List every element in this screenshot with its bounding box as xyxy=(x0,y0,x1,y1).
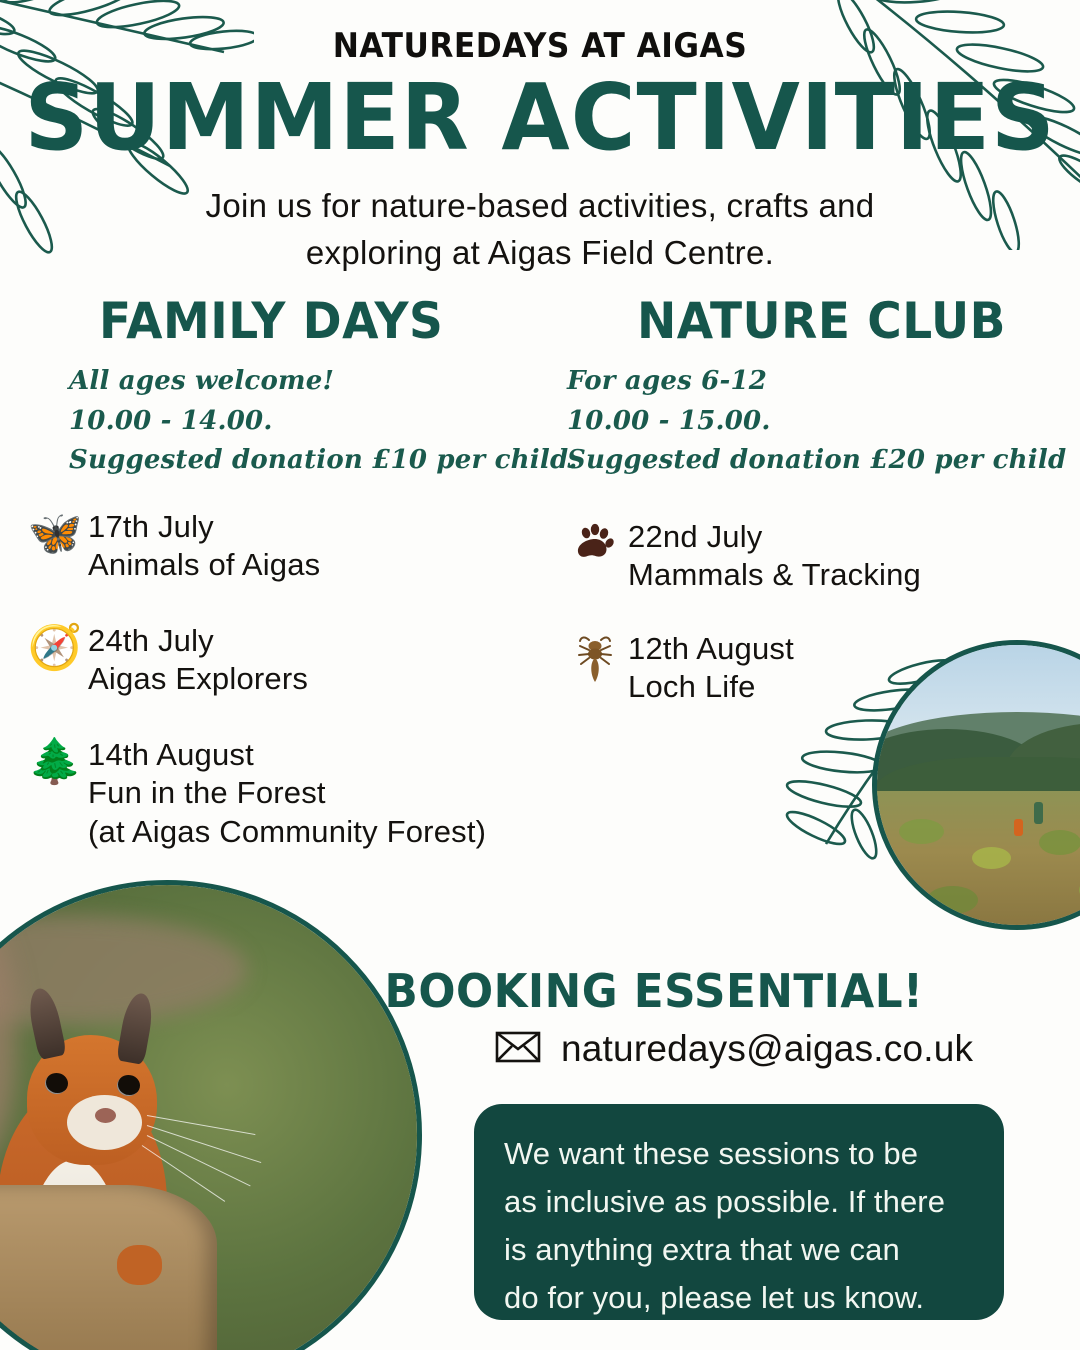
evergreen-trees-icon: 🌲 xyxy=(22,736,88,784)
event-item: 🦋 17th July Animals of Aigas xyxy=(22,508,320,585)
email-address[interactable]: naturedays@aigas.co.uk xyxy=(561,1028,973,1070)
family-days-meta-line-3: Suggested donation £10 per child. xyxy=(69,441,539,481)
event-date: 24th July xyxy=(88,622,308,660)
envelope-icon xyxy=(495,1030,541,1069)
inclusivity-line-2: as inclusive as possible. If there xyxy=(504,1178,974,1226)
event-name: Animals of Aigas xyxy=(88,546,320,584)
inclusivity-line-3: is anything extra that we can xyxy=(504,1226,974,1274)
event-name: Aigas Explorers xyxy=(88,660,308,698)
event-date: 14th August xyxy=(88,736,486,774)
event-text: 22nd July Mammals & Tracking xyxy=(628,518,921,595)
email-row[interactable]: naturedays@aigas.co.uk xyxy=(495,1028,973,1070)
section-heading-family-days: FAMILY DAYS xyxy=(99,292,443,350)
squirrel-photo xyxy=(0,880,422,1350)
landscape-photo xyxy=(872,640,1080,930)
event-name: Mammals & Tracking xyxy=(628,556,921,594)
intro-line-2: exploring at Aigas Field Centre. xyxy=(306,234,774,271)
booking-heading: BOOKING ESSENTIAL! xyxy=(27,964,1053,1018)
event-note: (at Aigas Community Forest) xyxy=(88,813,486,851)
intro-line-1: Join us for nature-based activities, cra… xyxy=(206,187,875,224)
nature-club-meta: For ages 6-12 10.00 - 15.00. Suggested d… xyxy=(567,362,1037,481)
kicker-text: NATUREDAYS AT AIGAS xyxy=(43,26,1037,66)
event-name: Loch Life xyxy=(628,668,794,706)
inclusivity-note: We want these sessions to be as inclusiv… xyxy=(474,1104,1004,1320)
event-item: 22nd July Mammals & Tracking xyxy=(562,518,921,595)
event-item: 12th August Loch Life xyxy=(562,630,794,707)
event-date: 22nd July xyxy=(628,518,921,556)
event-text: 24th July Aigas Explorers xyxy=(88,622,308,699)
family-days-meta: All ages welcome! 10.00 - 14.00. Suggest… xyxy=(69,362,539,481)
paw-print-icon xyxy=(562,518,628,572)
family-days-meta-line-2: 10.00 - 14.00. xyxy=(69,402,539,442)
event-name: Fun in the Forest xyxy=(88,774,486,812)
family-days-meta-line-1: All ages welcome! xyxy=(69,362,539,402)
section-heading-nature-club: NATURE CLUB xyxy=(637,292,1006,350)
poster-canvas: NATUREDAYS AT AIGAS SUMMER ACTIVITIES Jo… xyxy=(0,0,1080,1350)
event-date: 17th July xyxy=(88,508,320,546)
butterfly-icon: 🦋 xyxy=(22,508,88,556)
event-text: 17th July Animals of Aigas xyxy=(88,508,320,585)
event-text: 14th August Fun in the Forest (at Aigas … xyxy=(88,736,486,851)
insect-nymph-icon xyxy=(562,630,628,694)
event-date: 12th August xyxy=(628,630,794,668)
inclusivity-line-4: do for you, please let us know. xyxy=(504,1274,974,1322)
nature-club-meta-line-2: 10.00 - 15.00. xyxy=(567,402,1037,442)
event-item: 🌲 14th August Fun in the Forest (at Aiga… xyxy=(22,736,486,851)
compass-icon: 🧭 xyxy=(22,622,88,670)
event-text: 12th August Loch Life xyxy=(628,630,794,707)
nature-club-meta-line-1: For ages 6-12 xyxy=(567,362,1037,402)
event-item: 🧭 24th July Aigas Explorers xyxy=(22,622,308,699)
intro-text: Join us for nature-based activities, cra… xyxy=(150,183,930,277)
nature-club-meta-line-3: Suggested donation £20 per child xyxy=(567,441,1037,481)
page-title: SUMMER ACTIVITIES xyxy=(22,72,1059,164)
inclusivity-line-1: We want these sessions to be xyxy=(504,1130,974,1178)
